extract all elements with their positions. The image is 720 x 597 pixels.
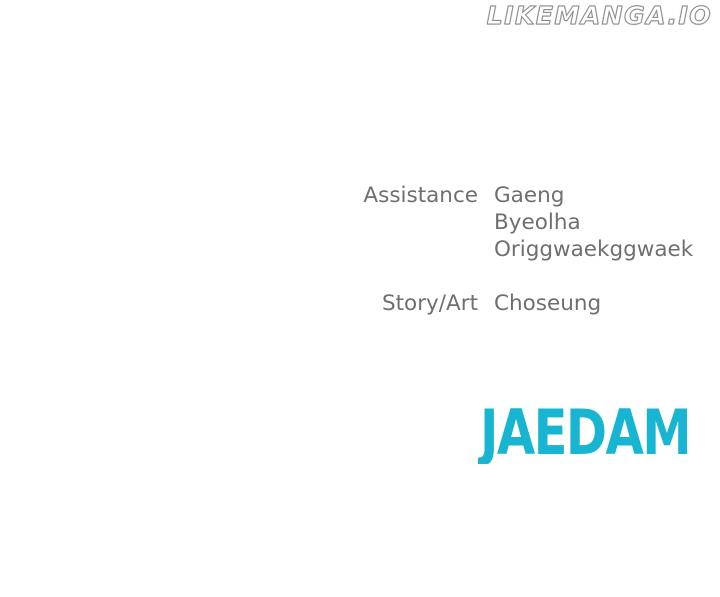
credit-value: Gaeng [494,182,693,209]
credit-label-assistance: Assistance [0,182,478,209]
credit-value: Byeolha [494,209,693,236]
publisher-logo: JAEDAM [478,408,692,464]
credit-label-story-art: Story/Art [0,290,478,317]
credit-value: Origgwaekggwaek [494,236,693,263]
credit-values-story-art: Choseung [494,290,601,317]
credit-values-assistance: Gaeng Byeolha Origgwaekggwaek [494,182,693,263]
credit-value: Choseung [494,290,601,317]
credits-page: LIKEMANGA.IO Assistance Gaeng Byeolha Or… [0,0,720,597]
credit-row: Story/Art Choseung [0,290,720,317]
site-watermark: LIKEMANGA.IO [487,3,712,28]
publisher-logo-text: JAEDAM [478,408,690,464]
credits-block: Assistance Gaeng Byeolha Origgwaekggwaek… [0,182,720,317]
credit-row: Assistance Gaeng Byeolha Origgwaekggwaek [0,182,720,263]
